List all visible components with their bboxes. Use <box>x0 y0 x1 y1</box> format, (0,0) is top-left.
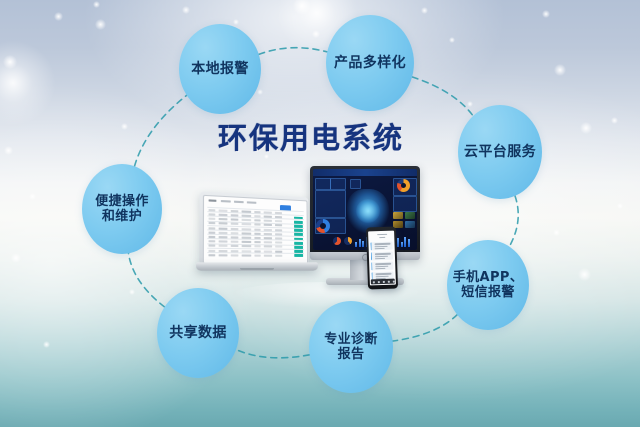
phone-app-screen <box>368 231 396 286</box>
phone-list-item[interactable] <box>370 242 392 251</box>
phone-list-item-line <box>376 273 392 275</box>
dashboard-donut-orange-center <box>401 183 406 188</box>
phone-nav-item <box>388 280 390 282</box>
node-bubble-label: 专业诊断报告 <box>320 332 382 363</box>
node-bubble-label-line: 和维护 <box>91 209 153 224</box>
table-cell <box>264 254 272 256</box>
laptop-lid <box>199 191 309 265</box>
node-bubble-easy-operation[interactable]: 便捷操作和维护 <box>82 164 162 254</box>
phone-list-item-line <box>375 258 385 260</box>
node-bubble-label: 便捷操作和维护 <box>91 194 153 225</box>
dashboard-bar <box>362 241 364 247</box>
node-bubble-label: 产品多样化 <box>330 55 410 72</box>
page-title: 环保用电系统 <box>218 115 404 157</box>
node-bubble-shared-data[interactable]: 共享数据 <box>157 288 239 378</box>
node-bubble-label: 共享数据 <box>165 325 231 342</box>
monitor-screen-body <box>310 166 420 259</box>
dashboard-bar <box>408 239 410 247</box>
monitor-dashboard <box>313 169 417 250</box>
phone-list-item-line <box>375 245 388 247</box>
node-bubble-cloud-platform[interactable]: 云平台服务 <box>458 105 542 199</box>
node-bubble-product-diversity[interactable]: 产品多样化 <box>326 15 414 111</box>
node-bubble-label-line: 共享数据 <box>165 325 231 342</box>
toolbar-item <box>209 199 217 202</box>
table-cell <box>208 254 215 256</box>
table-row <box>207 252 304 258</box>
toolbar-item <box>247 201 256 204</box>
laptop-data-table <box>203 195 308 264</box>
dashboard-header-bar <box>313 169 417 176</box>
node-bubble-label-line: 本地报警 <box>187 61 253 78</box>
phone-nav-item <box>378 281 380 283</box>
phone-bottom-nav <box>371 279 395 285</box>
dashboard-panel-kpi-2 <box>330 178 346 190</box>
dashboard-video-tile-4 <box>405 221 415 228</box>
table-status-badge <box>294 254 303 257</box>
dashboard-bar <box>404 237 406 247</box>
phone-header-line <box>377 234 387 236</box>
dashboard-donut-blue-center <box>320 223 326 229</box>
phone-list-item[interactable] <box>371 252 393 261</box>
table-cell <box>231 254 239 256</box>
phone-list-item-line <box>375 253 391 255</box>
phone-list-item[interactable] <box>371 262 393 271</box>
dashboard-panel-list-left <box>315 190 346 218</box>
dashboard-bar <box>397 238 399 247</box>
phone-nav-item <box>373 281 375 283</box>
node-bubble-label-line: 云平台服务 <box>460 144 540 161</box>
node-bubble-label-line: 产品多样化 <box>330 55 410 72</box>
smartphone <box>366 226 398 289</box>
dashboard-bar <box>355 242 357 247</box>
table-cell <box>275 255 282 257</box>
phone-header-line <box>379 237 385 238</box>
node-bubble-diagnostic-report[interactable]: 专业诊断报告 <box>309 301 393 393</box>
dashboard-bar <box>401 242 403 247</box>
node-bubble-label-line: 手机APP、 <box>449 270 528 285</box>
phone-list-item-line <box>375 263 391 265</box>
node-bubble-label: 本地报警 <box>187 61 253 78</box>
phone-nav-item <box>393 280 395 282</box>
poster-canvas: 本地报警产品多样化云平台服务手机APP、短信报警专业诊断报告共享数据便捷操作和维… <box>0 0 640 427</box>
dashboard-gauge-1 <box>333 237 341 245</box>
phone-nav-item <box>383 280 385 282</box>
node-bubble-label: 云平台服务 <box>460 144 540 161</box>
phone-list-item-line <box>374 243 390 245</box>
dashboard-gauge-2 <box>344 237 352 245</box>
node-bubble-label-line: 专业诊断 <box>320 332 382 347</box>
phone-list-item-line <box>375 268 385 270</box>
node-bubble-label: 手机APP、短信报警 <box>449 270 528 301</box>
table-cell <box>254 254 260 256</box>
node-bubble-local-alarm[interactable]: 本地报警 <box>179 24 261 114</box>
phone-list-item-line <box>375 265 388 267</box>
dashboard-panel-kpi-1 <box>315 178 331 190</box>
toolbar-item <box>221 200 231 203</box>
node-bubble-label-line: 报告 <box>320 347 382 362</box>
toolbar-item <box>234 200 244 203</box>
node-bubble-mobile-app-sms[interactable]: 手机APP、短信报警 <box>447 240 529 330</box>
node-bubble-label-line: 短信报警 <box>449 285 528 300</box>
table-cell <box>242 254 252 256</box>
phone-app-header <box>370 233 392 241</box>
phone-list <box>368 231 394 232</box>
laptop-trackpad-notch <box>240 268 274 270</box>
dashboard-video-tile-1 <box>393 212 403 219</box>
phone-list-item-line <box>375 248 385 250</box>
phone-list-item-line <box>375 255 388 257</box>
dashboard-panel-right-mid <box>393 196 417 212</box>
dashboard-panel-center-tag <box>350 179 361 189</box>
node-bubble-label-line: 便捷操作 <box>91 194 153 209</box>
dashboard-bar <box>359 239 361 247</box>
table-cell <box>219 254 228 256</box>
phone-list-item-line <box>376 275 389 277</box>
dashboard-video-tile-2 <box>405 212 415 219</box>
